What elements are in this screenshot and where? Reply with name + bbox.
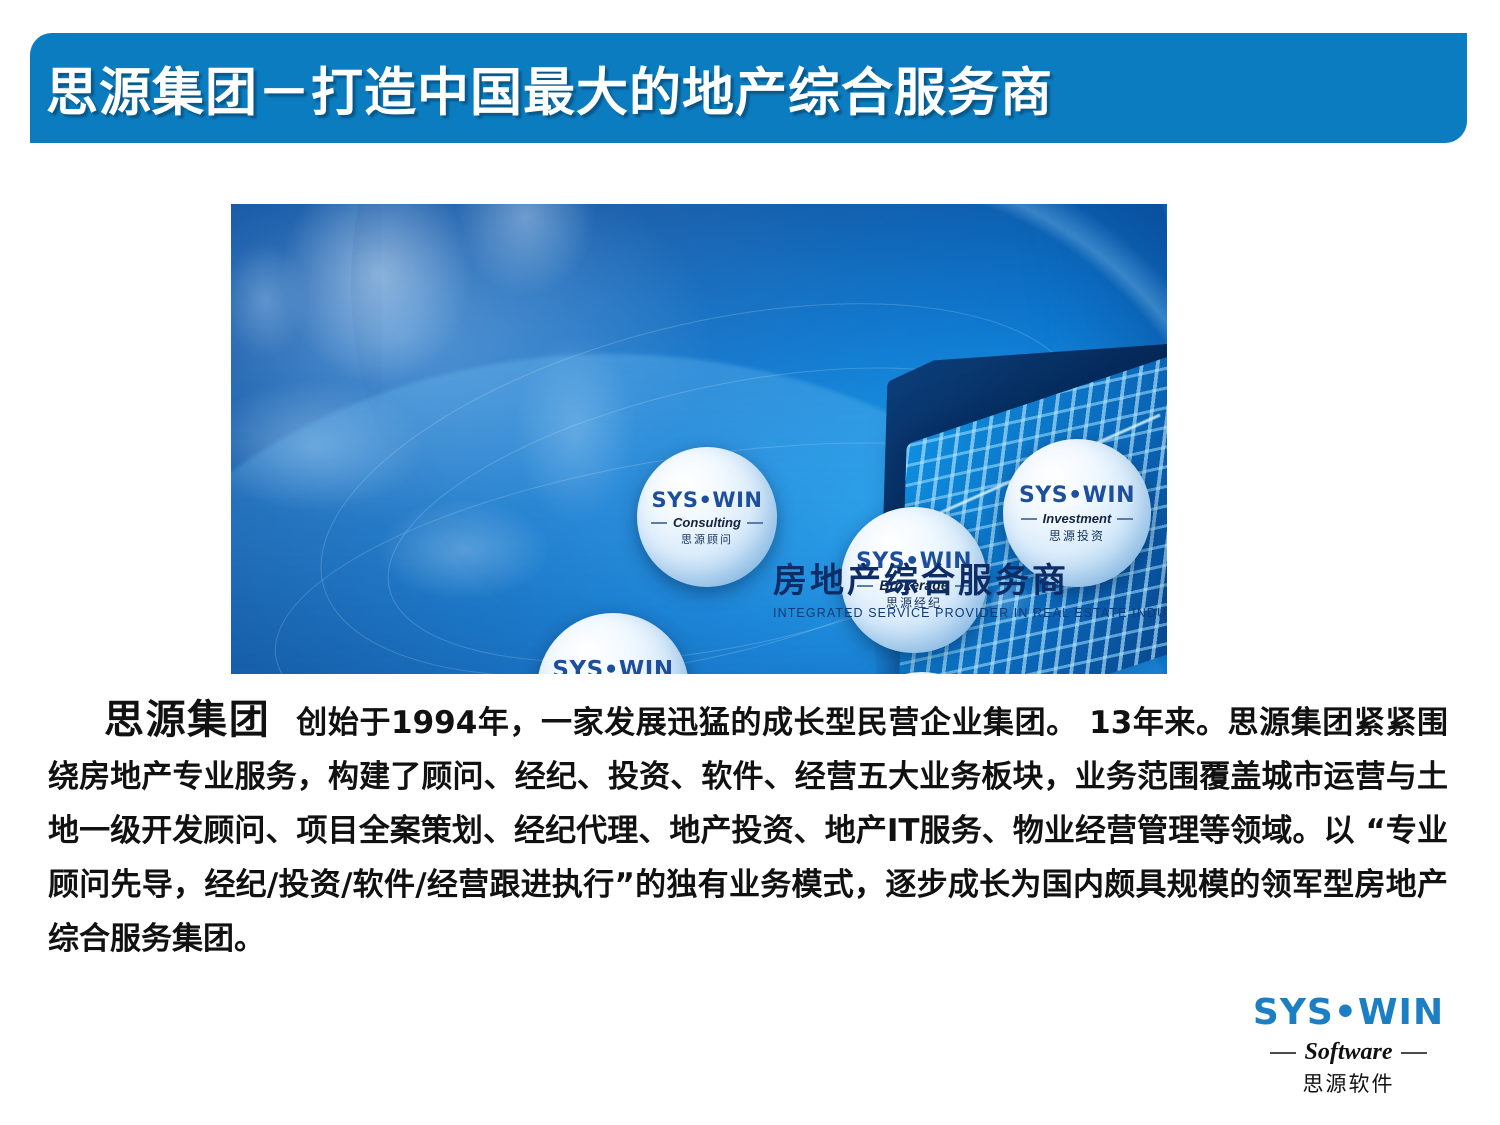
sphere-logo-mark: SYS•WIN <box>1019 485 1135 507</box>
sphere-logo-mark: SYS•WIN <box>652 490 763 511</box>
sphere-division-en: Consulting <box>673 516 741 529</box>
sphere-consulting: SYS•WIN Consulting 思源顾问 <box>637 447 777 587</box>
footer-logo-sub: Software <box>1304 1040 1392 1064</box>
hero-tagline-cn: 房地产综合服务商 <box>773 564 1167 600</box>
sphere-division-en: Investment <box>1043 512 1112 525</box>
hero-image: SYS•WIN Consulting 思源顾问 SYS•WIN Brokerag… <box>231 204 1167 674</box>
sphere-division-cn: 思源顾问 <box>681 534 733 545</box>
body-paragraph: 思源集团创始于1994年，一家发展迅猛的成长型民营企业集团。 13年来。思源集团… <box>48 693 1448 966</box>
page-title: 思源集团－打造中国最大的地产综合服务商 <box>46 51 1053 126</box>
sphere-logo-mark: SYS•WIN <box>552 659 673 674</box>
hero-tagline: 房地产综合服务商 INTEGRATED SERVICE PROVIDER IN … <box>773 564 1167 620</box>
footer-logo-mark: SYS•WIN <box>1246 995 1451 1031</box>
sphere-division-cn: 思源投资 <box>1049 530 1105 542</box>
slide-title-bar: 思源集团－打造中国最大的地产综合服务商 <box>30 33 1467 143</box>
body-lead-label: 思源集团 <box>104 697 270 743</box>
footer-logo: SYS•WIN Software 思源软件 <box>1246 995 1451 1095</box>
footer-logo-cn: 思源软件 <box>1246 1074 1451 1095</box>
hero-tagline-en: INTEGRATED SERVICE PROVIDER IN REAL ESTA… <box>773 606 1167 620</box>
